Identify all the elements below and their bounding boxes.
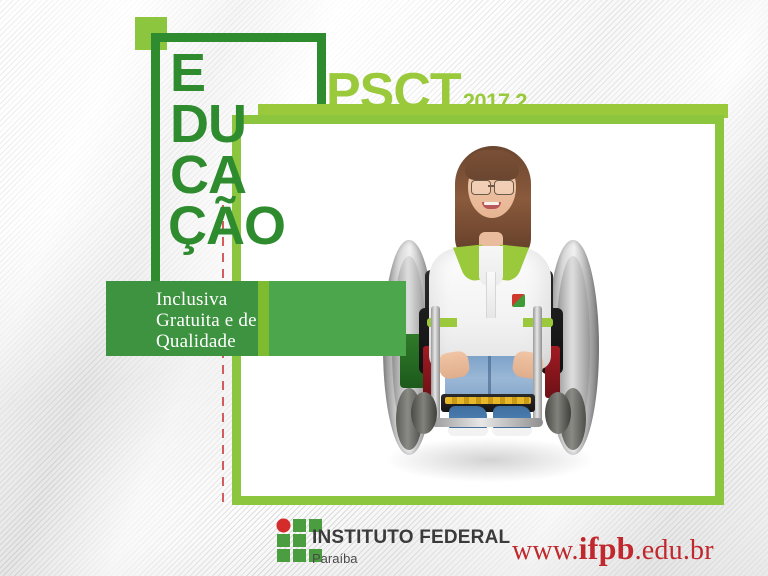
program-title-group: PSCT2017.2	[326, 62, 527, 122]
url-suffix: .edu.br	[635, 535, 714, 566]
campus-name: Paraíba	[312, 552, 510, 565]
ifpb-logo-wordmark: INSTITUTO FEDERAL Paraíba	[312, 528, 510, 565]
headline-line-4: ÇÃO	[168, 201, 338, 252]
student-photo	[375, 120, 605, 500]
tagline-line-1: Inclusiva	[156, 289, 257, 310]
shirt-crest-icon	[512, 294, 525, 307]
headline-educacao: E DU CA ÇÃO	[168, 48, 338, 252]
shoe-sole-right	[492, 428, 532, 436]
headline-line-3: CA	[170, 150, 338, 201]
eyeglasses-left-lens	[471, 180, 491, 195]
wheelchair-castor-right	[545, 392, 571, 434]
wheelchair-castor-left	[411, 392, 437, 434]
program-title: PSCT	[326, 62, 461, 122]
headline-line-2: DU	[170, 99, 338, 150]
poster-canvas: E DU CA ÇÃO PSCT2017.2 Inclusiva Gratuit…	[0, 0, 768, 576]
polo-placket	[486, 272, 496, 318]
teeth	[484, 202, 499, 205]
url-prefix: www.	[512, 535, 579, 566]
wheelchair-foot-strap	[445, 397, 531, 404]
institution-name: INSTITUTO FEDERAL	[312, 528, 510, 547]
tagline-banner: Inclusiva Gratuita e de Qualidade	[106, 281, 406, 356]
tagline-text: Inclusiva Gratuita e de Qualidade	[156, 289, 257, 352]
tagline-line-2: Gratuita e de	[156, 310, 257, 331]
eyeglasses-bridge	[488, 185, 495, 187]
program-year: 2017.2	[463, 89, 527, 115]
website-url[interactable]: www.ifpb.edu.br	[512, 530, 714, 567]
headline-line-1: E	[170, 48, 338, 99]
shoe-sole-left	[448, 428, 488, 436]
eyeglasses-right-lens	[494, 180, 514, 195]
tagline-line-3: Qualidade	[156, 331, 257, 352]
hair-fringe	[465, 150, 519, 180]
url-brand: ifpb	[579, 530, 635, 566]
wheelchair-front-crossbar	[431, 418, 543, 427]
tagline-banner-accent-strip	[258, 281, 269, 356]
